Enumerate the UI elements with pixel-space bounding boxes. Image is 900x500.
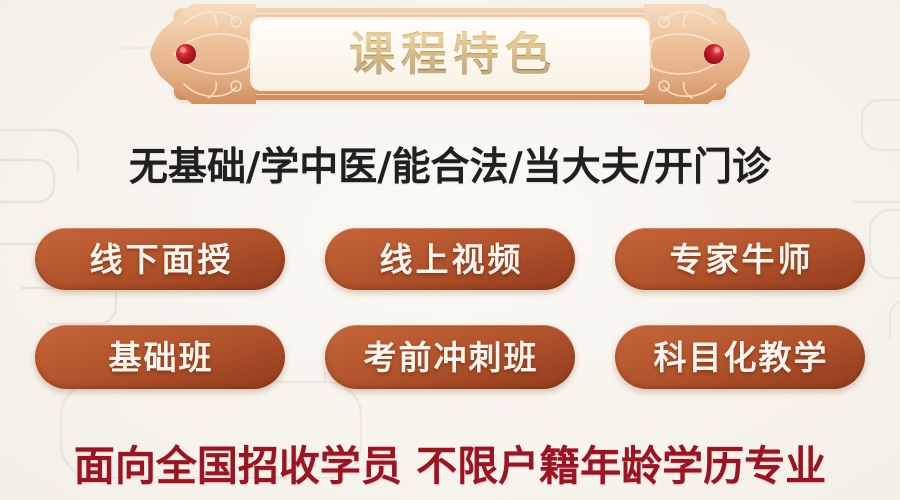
- feature-pill-label: 基础班: [107, 341, 214, 374]
- plaque-inner-panel: 课程特色: [250, 17, 650, 91]
- feature-pill[interactable]: 线上视频: [325, 228, 575, 290]
- feature-pill-label: 专家牛师: [667, 243, 814, 276]
- feature-pill-label: 科目化教学: [652, 341, 829, 374]
- title-plaque: 课程特色: [150, 2, 750, 106]
- feature-pill-label: 考前冲刺班: [362, 341, 539, 374]
- plaque-ornament-right: [638, 2, 750, 106]
- feature-pill[interactable]: 专家牛师: [615, 228, 865, 290]
- feature-pill[interactable]: 线下面授: [35, 228, 285, 290]
- plaque-ornament-left: [150, 2, 262, 106]
- feature-pill-label: 线下面授: [87, 243, 234, 276]
- page-title: 课程特色: [343, 31, 557, 77]
- feature-row-1: 线下面授 线上视频 专家牛师: [0, 228, 900, 290]
- feature-pill-label: 线上视频: [377, 243, 524, 276]
- feature-row-2: 基础班 考前冲刺班 科目化教学: [0, 325, 900, 389]
- feature-pill[interactable]: 考前冲刺班: [325, 325, 575, 389]
- feature-pill[interactable]: 基础班: [35, 325, 285, 389]
- subtitle-text: 无基础/学中医/能合法/当大夫/开门诊: [0, 136, 900, 192]
- course-features-poster: 课程特色 无基础/学中医/能合法/当大夫/开门诊 线下面授 线上视频 专家牛师 …: [0, 0, 900, 500]
- feature-pill[interactable]: 科目化教学: [615, 325, 865, 389]
- footer-banner-text: 面向全国招收学员 不限户籍年龄学历专业: [0, 432, 900, 492]
